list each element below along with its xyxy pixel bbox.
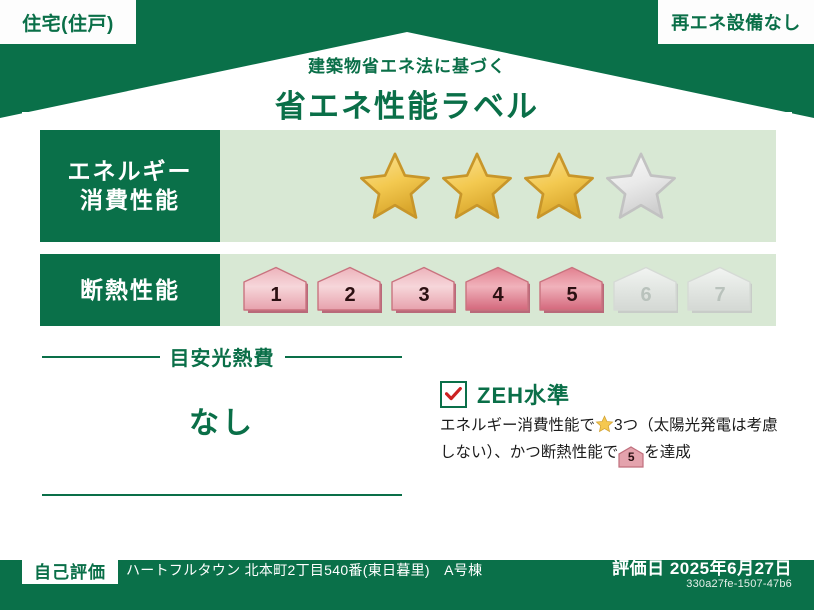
row-insulation-value: 1234567 <box>220 254 776 326</box>
check-icon <box>445 387 462 401</box>
label-title-block: 建築物省エネ法に基づく 省エネ性能ラベル <box>0 52 814 126</box>
star-filled-icon <box>358 150 432 222</box>
zeh-checkbox[interactable] <box>440 381 467 408</box>
evaluation-id: 330a27fe-1507-47b6 <box>686 578 792 590</box>
star-rating <box>358 150 678 222</box>
lower-section: 目安光熱費 なし ZEH水準 エネルギー消費性能で3つ（太陽光発電は考慮しない）… <box>22 336 792 542</box>
insulation-level-1: 1 <box>242 266 310 314</box>
row-insulation-performance: 断熱性能 1234567 <box>40 254 776 326</box>
insulation-level-2: 2 <box>316 266 384 314</box>
insulation-level-5: 5 <box>538 266 606 314</box>
insulation-level-3: 3 <box>390 266 458 314</box>
insulation-level-4: 4 <box>464 266 532 314</box>
badge-renewable-energy: 再エネ設備なし <box>658 0 814 44</box>
utility-cost-heading: 目安光熱費 <box>42 342 402 371</box>
inline-insulation-badge-value: 5 <box>618 446 644 468</box>
insulation-level-6: 6 <box>612 266 680 314</box>
evaluation-date: 評価日 2025年6月27日 <box>612 554 792 579</box>
insulation-level-label: 6 <box>640 284 651 314</box>
title-main: 省エネ性能ラベル <box>0 81 814 126</box>
insulation-level-7: 7 <box>686 266 754 314</box>
title-subtitle: 建築物省エネ法に基づく <box>0 52 814 77</box>
zeh-desc-part1: エネルギー消費性能で <box>440 417 595 434</box>
insulation-level-label: 4 <box>492 284 503 314</box>
property-address: ハートフルタウン 北本町2丁目540番(東日暮里) A号棟 <box>126 560 482 580</box>
insulation-level-label: 3 <box>418 284 429 314</box>
utility-cost-heading-text: 目安光熱費 <box>170 342 275 371</box>
inline-star-icon <box>595 415 614 433</box>
insulation-level-label: 7 <box>714 284 725 314</box>
insulation-level-scale: 1234567 <box>242 266 754 314</box>
row-energy-label-line1: エネルギー <box>68 157 193 186</box>
row-energy-label: エネルギー 消費性能 <box>40 130 220 242</box>
row-energy-value <box>220 130 776 242</box>
zeh-title: ZEH水準 <box>477 378 570 410</box>
star-filled-icon <box>522 150 596 222</box>
heading-rule-left <box>42 356 160 358</box>
badge-building-type: 住宅(住戸) <box>0 0 136 44</box>
insulation-level-label: 5 <box>566 284 577 314</box>
row-insulation-label-line1: 断熱性能 <box>80 276 180 305</box>
utility-cost-bottom-rule <box>42 494 402 496</box>
heading-rule-right <box>285 356 403 358</box>
insulation-level-label: 2 <box>344 284 355 314</box>
label-footer: 自己評価 ハートフルタウン 北本町2丁目540番(東日暮里) A号棟 評価日 2… <box>0 548 814 610</box>
utility-cost-value: なし <box>22 398 422 442</box>
star-empty-icon <box>604 150 678 222</box>
zeh-description: エネルギー消費性能で3つ（太陽光発電は考慮しない）、かつ断熱性能で5を達成 <box>440 412 780 466</box>
zeh-section: ZEH水準 エネルギー消費性能で3つ（太陽光発電は考慮しない）、かつ断熱性能で5… <box>422 336 792 542</box>
row-energy-performance: エネルギー 消費性能 <box>40 130 776 242</box>
self-evaluation-badge: 自己評価 <box>22 556 118 584</box>
utility-cost-section: 目安光熱費 なし <box>22 336 422 542</box>
energy-performance-label: 住宅(住戸) 再エネ設備なし 建築物省エネ法に基づく 省エネ性能ラベル エネルギ… <box>0 0 814 610</box>
row-energy-label-line2: 消費性能 <box>80 186 180 215</box>
star-filled-icon <box>440 150 514 222</box>
zeh-heading: ZEH水準 <box>440 378 570 410</box>
row-insulation-label: 断熱性能 <box>40 254 220 326</box>
inline-insulation-badge: 5 <box>618 446 644 466</box>
insulation-level-label: 1 <box>270 284 281 314</box>
zeh-desc-part3: を達成 <box>644 444 691 461</box>
